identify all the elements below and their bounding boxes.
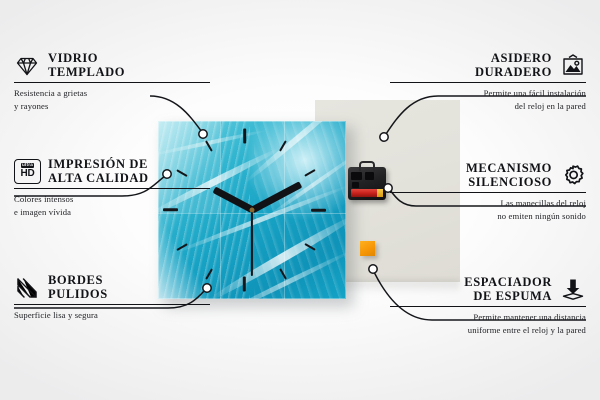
description-line-1: Superficie lisa y segura [14,309,210,321]
description-line-2: y rayones [14,100,210,112]
divider [390,82,586,83]
feature-title: ASIDERO DURADERO [475,52,552,79]
movement-slot [351,172,362,180]
description-line-1: Colores intensos [14,193,210,205]
movement-slot [365,172,374,180]
clock-hour-mark [311,209,326,212]
battery-terminal [377,189,383,197]
title-line-2: ALTA CALIDAD [48,172,149,186]
feature-description: Permite mantener una distancia uniforme … [390,311,586,335]
feature-description: Colores intensos e imagen vívida [14,193,210,217]
hd-label: HD [20,169,34,179]
movement-slot [352,182,359,188]
divider [14,188,210,189]
description-line-1: Permite mantener una distancia [390,311,586,323]
feature-bordes-pulidos: BORDES PULIDOS Superficie lisa y segura [14,274,210,322]
movement-hanger-icon [359,161,375,171]
polished-edges-icon [14,275,40,301]
battery [351,189,383,197]
quartz-movement [348,167,386,200]
divider [390,306,586,307]
feature-vidrio-templado: VIDRIO TEMPLADO Resistencia a grietas y … [14,52,210,112]
clock-hour-mark [243,277,246,292]
divider [14,304,210,305]
feature-espaciador-de-espuma: ESPACIADOR DE ESPUMA Permite mantener un… [390,276,586,336]
feature-title: MECANISMO SILENCIOSO [466,162,552,189]
feature-title: ESPACIADOR DE ESPUMA [464,276,552,303]
title-line-1: MECANISMO [466,162,552,176]
clock-hour-mark [243,129,246,144]
title-line-1: ESPACIADOR [464,276,552,290]
title-line-2: SILENCIOSO [466,176,552,190]
ultra-hd-icon: ultra HD [14,159,40,185]
description-line-1: Las manecillas del reloj [390,197,586,209]
feature-title: BORDES PULIDOS [48,274,108,301]
feature-mecanismo-silencioso: MECANISMO SILENCIOSO Las manecillas del … [390,162,586,222]
title-line-2: TEMPLADO [48,66,125,80]
title-line-2: PULIDOS [48,288,108,302]
description-line-2: e imagen vívida [14,206,210,218]
description-line-1: Permite una fácil instalación [390,87,586,99]
feature-title: VIDRIO TEMPLADO [48,52,125,79]
description-line-2: uniforme entre el reloj y la pared [390,324,586,336]
clock-center-cap [250,208,255,213]
divider [14,82,210,83]
down-arrow-pad-icon [560,277,586,303]
gear-icon [560,163,586,189]
diamond-icon [14,53,40,79]
feature-description: Permite una fácil instalación del reloj … [390,87,586,111]
feature-description: Superficie lisa y segura [14,309,210,321]
title-line-1: IMPRESIÓN DE [48,158,149,172]
feature-title: IMPRESIÓN DE ALTA CALIDAD [48,158,149,185]
title-line-2: DURADERO [475,66,552,80]
clock-second-hand [251,210,253,276]
description-line-2: del reloj en la pared [390,100,586,112]
title-line-1: VIDRIO [48,52,125,66]
infographic-canvas: VIDRIO TEMPLADO Resistencia a grietas y … [0,0,600,400]
description-line-2: no emiten ningún sonido [390,210,586,222]
feature-description: Resistencia a grietas y rayones [14,87,210,111]
glass-seam [220,121,221,299]
feature-description: Las manecillas del reloj no emiten ningú… [390,197,586,221]
title-line-2: DE ESPUMA [464,290,552,304]
description-line-1: Resistencia a grietas [14,87,210,99]
title-line-1: BORDES [48,274,108,288]
foam-spacer [360,241,375,256]
hanging-frame-icon [560,53,586,79]
divider [390,192,586,193]
feature-asidero-duradero: ASIDERO DURADERO Permite una fácil insta… [390,52,586,112]
feature-impresion-alta-calidad: ultra HD IMPRESIÓN DE ALTA CALIDAD Color… [14,158,210,218]
title-line-1: ASIDERO [475,52,552,66]
glass-seam [284,121,285,299]
